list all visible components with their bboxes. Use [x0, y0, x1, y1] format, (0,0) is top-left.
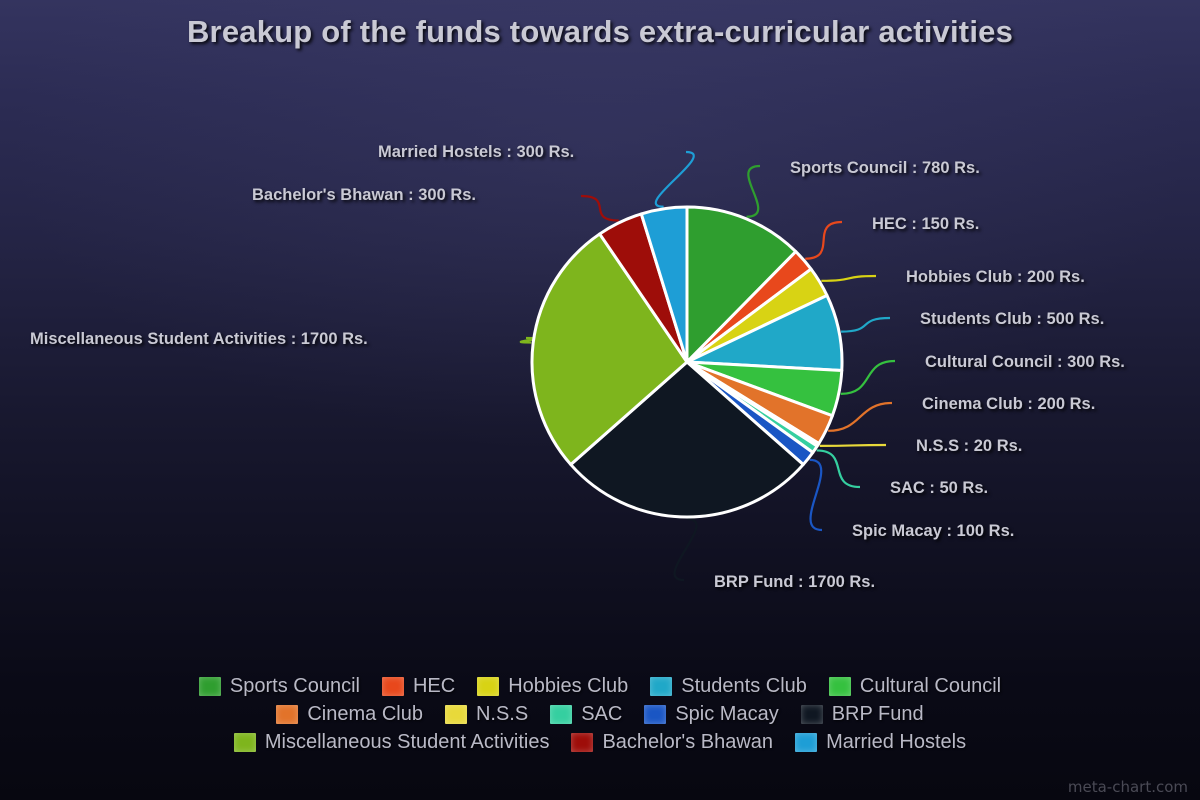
leader-line [581, 196, 619, 221]
legend-item-label: Students Club [681, 675, 807, 698]
legend-item-label: SAC [581, 703, 622, 726]
leader-line [821, 276, 876, 281]
legend-swatch-icon [550, 705, 572, 724]
label-nss: N.S.S : 20 Rs. [916, 437, 1022, 456]
legend-item[interactable]: Cinema Club [276, 703, 423, 726]
label-cinema-club: Cinema Club : 200 Rs. [922, 395, 1095, 414]
legend-item-label: Married Hostels [826, 731, 966, 754]
legend-swatch-icon [801, 705, 823, 724]
legend-swatch-icon [477, 677, 499, 696]
legend-item-label: Cultural Council [860, 675, 1001, 698]
legend-item[interactable]: Spic Macay [644, 703, 778, 726]
legend-item-label: Hobbies Club [508, 675, 628, 698]
leader-line [675, 519, 697, 580]
legend-item[interactable]: Hobbies Club [477, 675, 628, 698]
legend-item[interactable]: Sports Council [199, 675, 360, 698]
leader-line [656, 152, 694, 207]
leader-line [805, 222, 842, 259]
legend-item[interactable]: Bachelor's Bhawan [571, 731, 773, 754]
legend-item[interactable]: SAC [550, 703, 622, 726]
legend-row: Miscellaneous Student ActivitiesBachelor… [0, 728, 1200, 756]
legend-swatch-icon [445, 705, 467, 724]
leader-line [841, 318, 890, 332]
label-married-hostels: Married Hostels : 300 Rs. [378, 143, 574, 162]
legend-swatch-icon [795, 733, 817, 752]
pie-slices-group: Sports Council : 780 Rs.HEC : 150 Rs.Hob… [532, 207, 842, 517]
legend-item-label: Miscellaneous Student Activities [265, 731, 550, 754]
pie-chart-figure: Breakup of the funds towards extra-curri… [0, 0, 1200, 800]
label-brp-fund: BRP Fund : 1700 Rs. [714, 573, 875, 592]
label-cultural-council: Cultural Council : 300 Rs. [925, 353, 1125, 372]
label-sac: SAC : 50 Rs. [890, 479, 988, 498]
legend-item-label: N.S.S [476, 703, 528, 726]
legend-item[interactable]: Miscellaneous Student Activities [234, 731, 550, 754]
label-spic-macay: Spic Macay : 100 Rs. [852, 522, 1014, 541]
legend-swatch-icon [829, 677, 851, 696]
leader-line [810, 460, 822, 530]
legend: Sports CouncilHECHobbies ClubStudents Cl… [0, 672, 1200, 756]
legend-item[interactable]: Married Hostels [795, 731, 966, 754]
label-sports-council: Sports Council : 780 Rs. [790, 159, 980, 178]
legend-row: Cinema ClubN.S.SSACSpic MacayBRP Fund [0, 700, 1200, 728]
leader-line [828, 403, 892, 431]
leader-line [747, 166, 760, 217]
legend-swatch-icon [234, 733, 256, 752]
legend-item-label: Bachelor's Bhawan [602, 731, 773, 754]
label-hec: HEC : 150 Rs. [872, 215, 979, 234]
legend-swatch-icon [571, 733, 593, 752]
legend-item[interactable]: N.S.S [445, 703, 528, 726]
legend-item-label: HEC [413, 675, 455, 698]
legend-row: Sports CouncilHECHobbies ClubStudents Cl… [0, 672, 1200, 700]
label-misc-activities: Miscellaneous Student Activities : 1700 … [30, 330, 368, 349]
legend-item-label: Sports Council [230, 675, 360, 698]
legend-swatch-icon [276, 705, 298, 724]
legend-swatch-icon [382, 677, 404, 696]
label-students-club: Students Club : 500 Rs. [920, 310, 1104, 329]
legend-swatch-icon [644, 705, 666, 724]
label-hobbies-club: Hobbies Club : 200 Rs. [906, 268, 1085, 287]
leader-line [841, 361, 895, 394]
legend-item[interactable]: BRP Fund [801, 703, 924, 726]
leader-line [817, 450, 860, 487]
watermark: meta-chart.com [1068, 778, 1188, 796]
legend-item[interactable]: HEC [382, 675, 455, 698]
page-title: Breakup of the funds towards extra-curri… [0, 14, 1200, 50]
legend-item-label: Cinema Club [307, 703, 423, 726]
legend-item-label: Spic Macay [675, 703, 778, 726]
label-bachelors-bhawan: Bachelor's Bhawan : 300 Rs. [252, 186, 476, 205]
legend-swatch-icon [650, 677, 672, 696]
legend-swatch-icon [199, 677, 221, 696]
leader-line [820, 445, 886, 446]
legend-item-label: BRP Fund [832, 703, 924, 726]
legend-item[interactable]: Cultural Council [829, 675, 1001, 698]
legend-item[interactable]: Students Club [650, 675, 807, 698]
